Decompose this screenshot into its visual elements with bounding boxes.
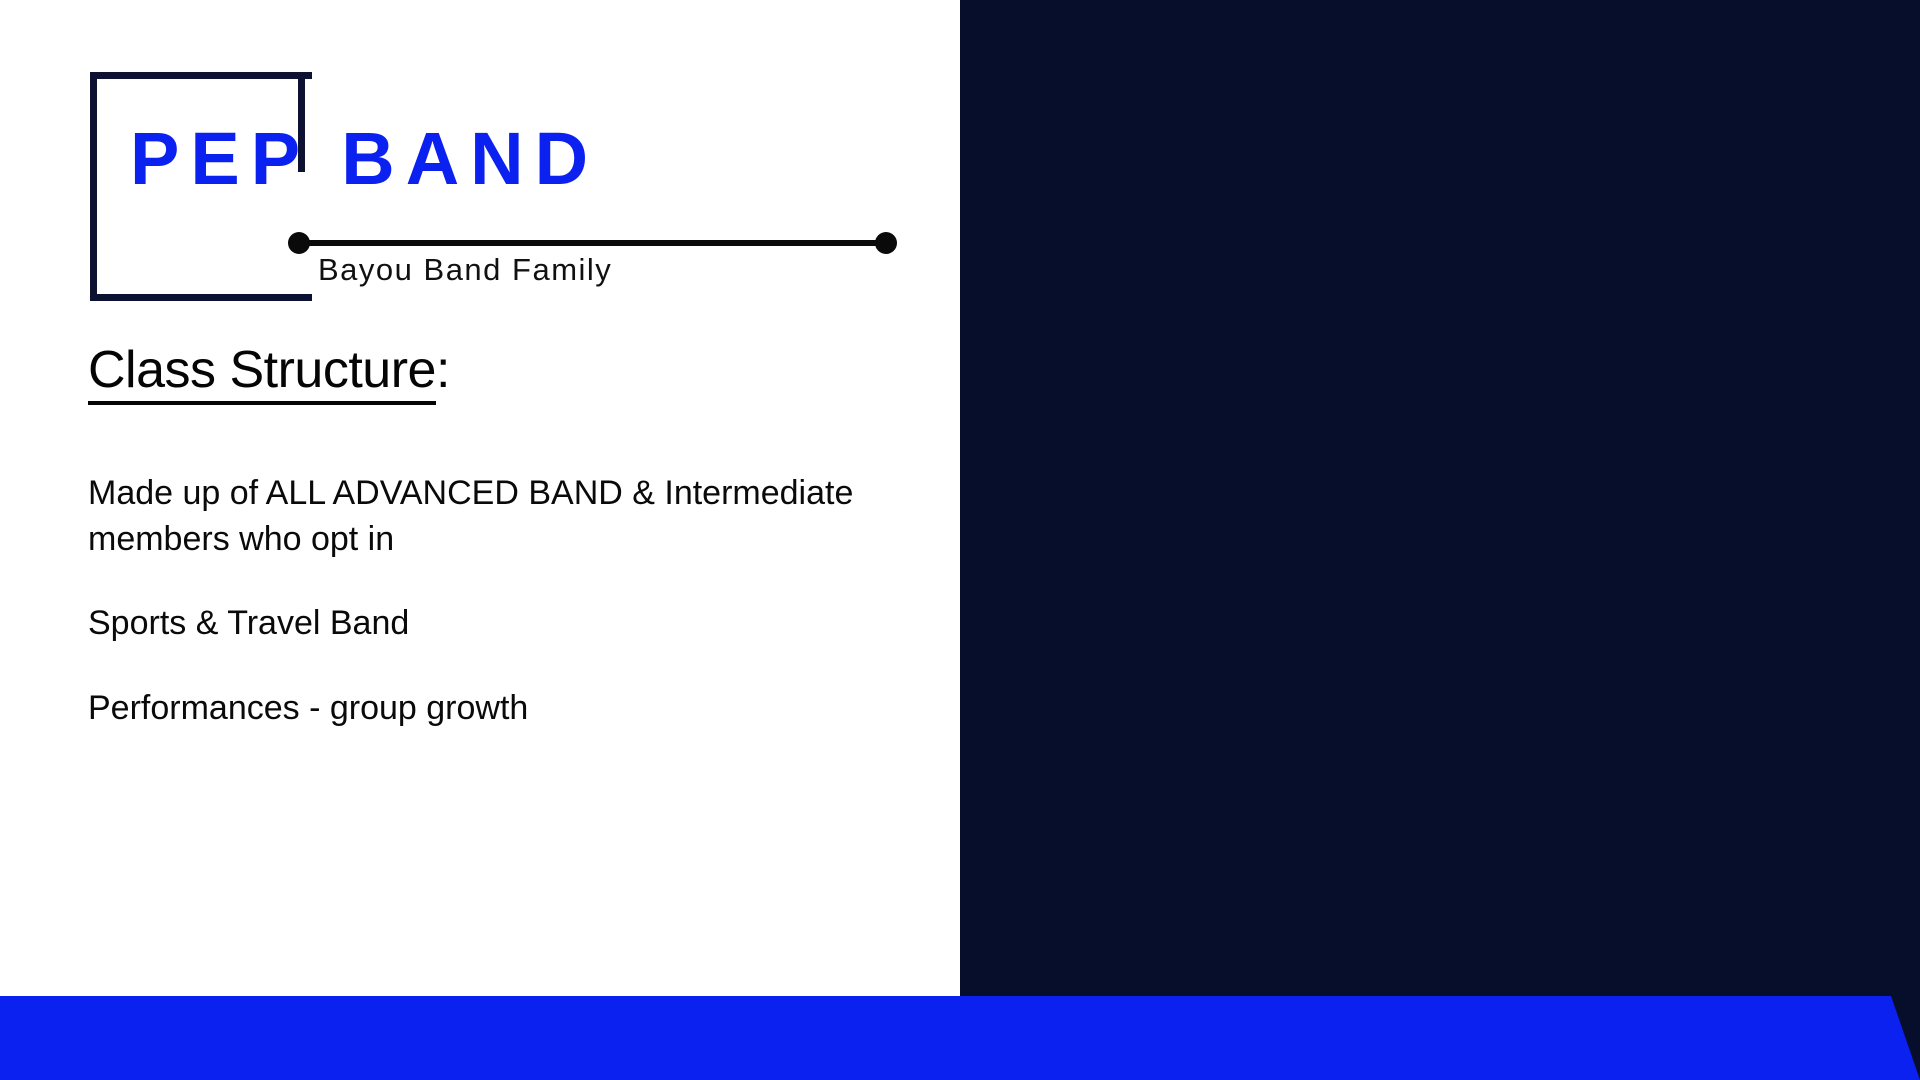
right-panel: Performance Expectations: BAYOU ACADEMY [960, 0, 1920, 1000]
logo-wordmark: PEP BAND [130, 122, 599, 196]
class-structure-heading: Class Structure: [88, 340, 450, 400]
class-structure-heading-text: Class Structure [88, 341, 436, 405]
class-structure-body: Made up of ALL ADVANCED BAND & Intermedi… [88, 470, 878, 731]
pep-band-logo: PEP BAND Bayou Band Family [0, 0, 960, 300]
logo-tagline: Bayou Band Family [318, 252, 612, 288]
class-structure-paragraph: Made up of ALL ADVANCED BAND & Intermedi… [88, 470, 878, 562]
bottom-accent-band [0, 996, 1920, 1080]
logo-rule-line [300, 240, 886, 246]
left-panel: PEP BAND Bayou Band Family Class Structu… [0, 0, 960, 1000]
bottom-accent-band-blue [0, 996, 1920, 1080]
class-structure-paragraph: Performances - group growth [88, 685, 878, 731]
class-structure-paragraph: Sports & Travel Band [88, 600, 878, 646]
logo-dot-right-icon [875, 232, 897, 254]
slide-canvas: PEP BAND Bayou Band Family Class Structu… [0, 0, 1920, 1080]
class-structure-heading-colon: : [436, 341, 450, 399]
logo-dot-left-icon [288, 232, 310, 254]
